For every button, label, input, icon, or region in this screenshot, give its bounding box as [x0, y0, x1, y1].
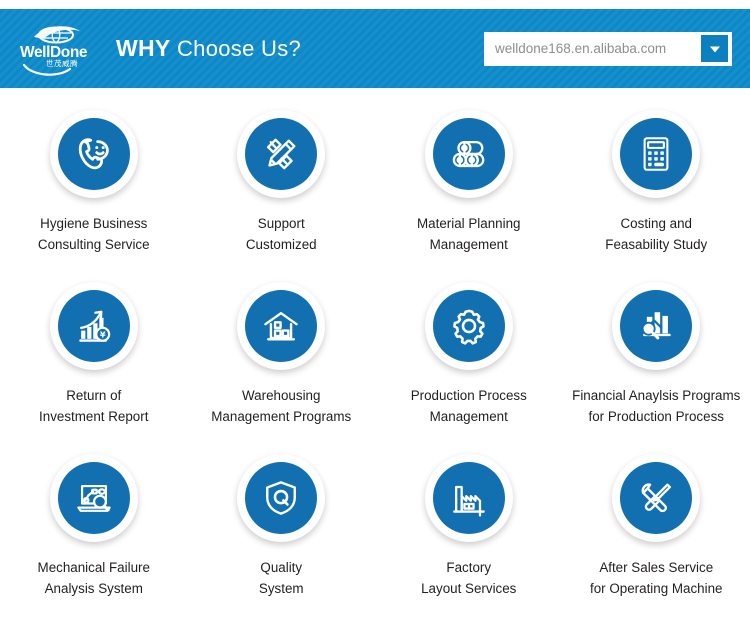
bar-chart-magnifier-icon — [620, 290, 692, 362]
factory-icon — [433, 462, 505, 534]
service-label: Financial Anaylsis Programs for Producti… — [568, 385, 744, 427]
service-icon-badge — [612, 454, 700, 542]
wrench-screwdriver-icon — [620, 462, 692, 534]
growth-chart-coin-icon: ¥ — [58, 290, 130, 362]
service-label: Return of Investment Report — [35, 385, 152, 427]
service-icon-badge — [612, 282, 700, 370]
service-label: Production Process Management — [407, 385, 531, 427]
service-card-warehousing-management-programs[interactable]: Warehousing Management Programs — [188, 276, 376, 448]
service-label: Support Customized — [242, 213, 321, 255]
url-input[interactable]: welldone168.en.alibaba.com — [495, 41, 701, 56]
svg-text:¥: ¥ — [100, 330, 106, 340]
service-label: Mechanical Failure Analysis System — [34, 557, 154, 599]
service-icon-badge — [425, 282, 513, 370]
page-title: WHY Choose Us? — [116, 35, 301, 62]
service-card-quality-system[interactable]: Quality System — [188, 448, 376, 620]
service-card-return-of-investment-report[interactable]: ¥ Return of Investment Report — [0, 276, 188, 448]
service-icon-badge — [237, 282, 325, 370]
pencil-ruler-icon — [245, 118, 317, 190]
service-card-hygiene-business-consulting-service[interactable]: Hygiene Business Consulting Service — [0, 104, 188, 276]
service-icon-badge — [425, 454, 513, 542]
stacked-pipes-icon — [433, 118, 505, 190]
service-card-mechanical-failure-analysis-system[interactable]: Mechanical Failure Analysis System — [0, 448, 188, 620]
service-label: Warehousing Management Programs — [207, 385, 355, 427]
service-icon-badge — [425, 110, 513, 198]
services-grid: Hygiene Business Consulting Service — [0, 88, 750, 620]
service-card-material-planning-management[interactable]: Material Planning Management — [375, 104, 563, 276]
service-icon-badge: ¥ — [50, 282, 138, 370]
shield-q-icon — [245, 462, 317, 534]
phone-smiley-icon — [58, 118, 130, 190]
calculator-icon — [620, 118, 692, 190]
service-icon-badge — [612, 110, 700, 198]
url-dropdown[interactable]: welldone168.en.alibaba.com — [484, 32, 732, 66]
service-card-after-sales-service-for-operating-machine[interactable]: After Sales Service for Operating Machin… — [563, 448, 750, 620]
service-icon-badge — [237, 454, 325, 542]
page-title-emphasis: WHY — [116, 35, 171, 61]
service-card-financial-anaylsis-programs-for-production-process[interactable]: Financial Anaylsis Programs for Producti… — [563, 276, 750, 448]
service-card-production-process-management[interactable]: Production Process Management — [375, 276, 563, 448]
svg-text:世茂威腾: 世茂威腾 — [46, 58, 78, 68]
service-icon-badge — [237, 110, 325, 198]
service-label: Factory Layout Services — [417, 557, 520, 599]
laptop-machine-magnifier-icon — [58, 462, 130, 534]
page-title-rest: Choose Us? — [171, 36, 301, 61]
service-label: After Sales Service for Operating Machin… — [586, 557, 727, 599]
service-label: Hygiene Business Consulting Service — [34, 213, 154, 255]
service-icon-badge — [50, 454, 138, 542]
service-icon-badge — [50, 110, 138, 198]
service-label: Quality System — [255, 557, 308, 599]
why-choose-us-page: WellDone 世茂威腾 WHY Choose Us? welldone168… — [0, 9, 750, 624]
warehouse-boxes-icon — [245, 290, 317, 362]
page-header: WellDone 世茂威腾 WHY Choose Us? welldone168… — [0, 9, 750, 88]
gear-icon — [433, 290, 505, 362]
service-card-factory-layout-services[interactable]: Factory Layout Services — [375, 448, 563, 620]
welldone-logo[interactable]: WellDone 世茂威腾 — [18, 21, 96, 77]
service-label: Material Planning Management — [413, 213, 524, 255]
service-card-costing-and-feasability-study[interactable]: Costing and Feasability Study — [563, 104, 750, 276]
service-label: Costing and Feasability Study — [601, 213, 711, 255]
chevron-down-icon[interactable] — [701, 35, 728, 62]
service-card-support-customized[interactable]: Support Customized — [188, 104, 376, 276]
